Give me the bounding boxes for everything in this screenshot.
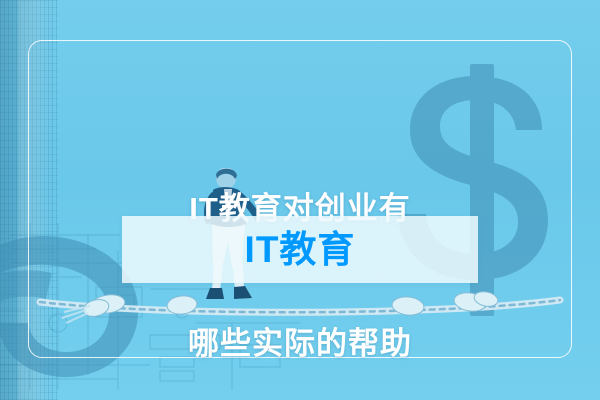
brand-banner: IT教育 <box>122 216 478 283</box>
promo-banner: IT教育对创业有 哪些实际的帮助 IT教育 <box>0 0 600 400</box>
headline-line-2: 哪些实际的帮助 <box>0 321 600 366</box>
brand-label: IT教育 <box>245 231 356 268</box>
